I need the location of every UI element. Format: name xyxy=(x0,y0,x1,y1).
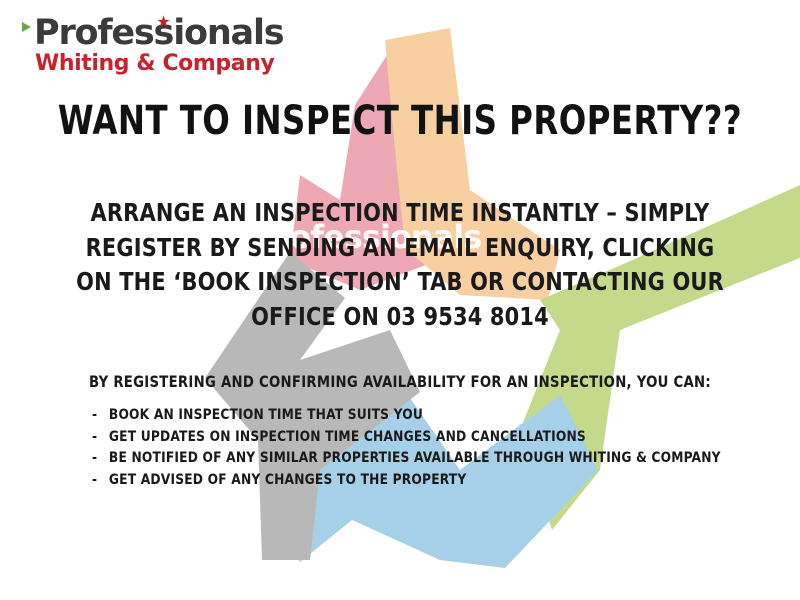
list-item: - BE NOTIFIED OF ANY SIMILAR PROPERTIES … xyxy=(92,451,758,466)
benefits-list: - BOOK AN INSPECTION TIME THAT SUITS YOU… xyxy=(0,408,800,494)
star-icon: ★ xyxy=(156,15,170,29)
list-item-label: BOOK AN INSPECTION TIME THAT SUITS YOU xyxy=(109,408,758,423)
subheading: BY REGISTERING AND CONFIRMING AVAILABILI… xyxy=(32,372,768,391)
poster-canvas: Professionals Professionals ★ Whiting & … xyxy=(0,0,800,600)
list-item: - BOOK AN INSPECTION TIME THAT SUITS YOU xyxy=(92,408,758,423)
lead-paragraph: ARRANGE AN INSPECTION TIME INSTANTLY – S… xyxy=(28,196,772,334)
headline: WANT TO INSPECT THIS PROPERTY?? xyxy=(40,100,760,142)
bullet-dash-icon: - xyxy=(92,408,109,423)
list-item-label: GET ADVISED OF ANY CHANGES TO THE PROPER… xyxy=(109,473,758,488)
company-logo: Professionals ★ Whiting & Company xyxy=(22,16,283,75)
list-item-label: BE NOTIFIED OF ANY SIMILAR PROPERTIES AV… xyxy=(109,451,758,466)
logo-professionals: Professionals ★ xyxy=(22,16,283,51)
logo-whiting-company: Whiting & Company xyxy=(22,53,283,75)
arrow-mark-icon xyxy=(22,22,31,32)
bullet-dash-icon: - xyxy=(92,473,109,488)
bullet-dash-icon: - xyxy=(92,451,109,466)
list-item: - GET UPDATES ON INSPECTION TIME CHANGES… xyxy=(92,430,758,445)
list-item-label: GET UPDATES ON INSPECTION TIME CHANGES A… xyxy=(109,430,758,445)
bullet-dash-icon: - xyxy=(92,430,109,445)
list-item: - GET ADVISED OF ANY CHANGES TO THE PROP… xyxy=(92,473,758,488)
